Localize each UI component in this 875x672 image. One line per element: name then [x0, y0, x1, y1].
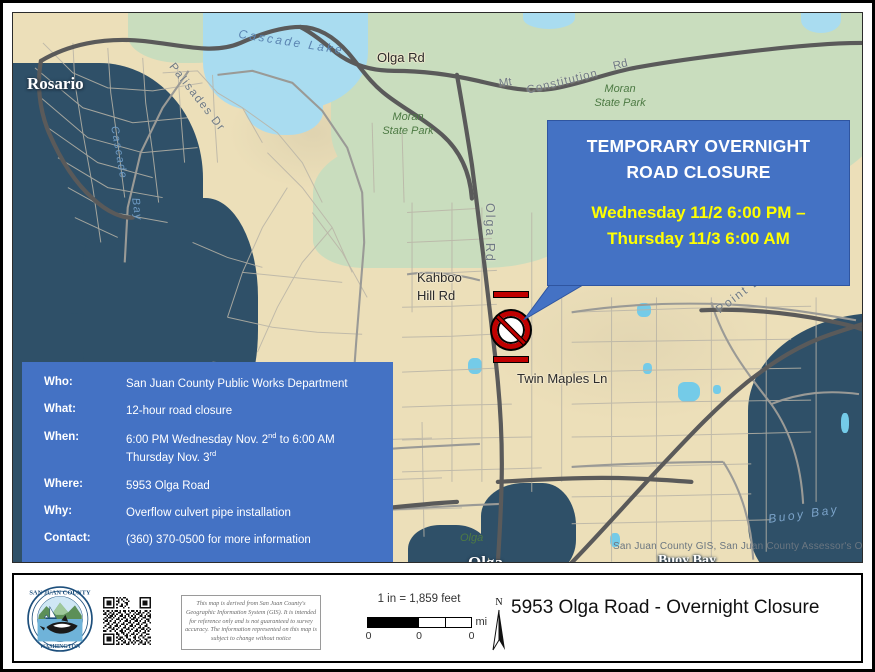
- info-value: San Juan County Public Works Department: [126, 376, 348, 393]
- info-row-when: When: 6:00 PM Wednesday Nov. 2nd to 6:00…: [44, 431, 393, 466]
- when-line2-sup: rd: [210, 449, 217, 458]
- map-panel[interactable]: Rosario Cascade Lake Cascade Bay Olga Rd…: [12, 12, 863, 563]
- scale-bar-filled: [368, 618, 420, 627]
- scale-ratio-text: 1 in = 1,859 feet: [354, 593, 484, 605]
- scale-tick-labels: 0 0 0: [367, 630, 472, 644]
- info-value: 12-hour road closure: [126, 403, 232, 420]
- footer-map-title: 5953 Olga Road - Overnight Closure: [511, 597, 819, 619]
- north-arrow-icon: [486, 608, 512, 652]
- qr-code-icon[interactable]: [103, 597, 151, 645]
- no-entry-icon: [492, 311, 530, 349]
- map-poster: Rosario Cascade Lake Cascade Bay Olga Rd…: [0, 0, 875, 672]
- svg-text:WASHINGTON: WASHINGTON: [40, 644, 81, 650]
- when-line2-a: Thursday Nov. 3: [126, 452, 210, 464]
- info-row-where: Where: 5953 Olga Road: [44, 478, 393, 495]
- info-key: When:: [44, 431, 126, 466]
- map-canvas[interactable]: Rosario Cascade Lake Cascade Bay Olga Rd…: [13, 13, 862, 562]
- map-scale: 1 in = 1,859 feet mi 0 0 0: [354, 593, 484, 644]
- scale-bar-tick: [445, 618, 446, 627]
- info-value: 6:00 PM Wednesday Nov. 2nd to 6:00 AM Th…: [126, 431, 335, 466]
- scale-tick-2: 0: [469, 630, 475, 642]
- when-line1-b: to 6:00 AM: [276, 434, 334, 446]
- callout-date-2: Thursday 11/3 6:00 AM: [558, 226, 839, 252]
- info-value: 5953 Olga Road: [126, 478, 210, 495]
- closure-bar-top: [493, 291, 529, 298]
- no-entry-slash: [496, 315, 526, 345]
- scale-tick-1: 0: [416, 630, 422, 642]
- svg-text:SAN JUAN COUNTY: SAN JUAN COUNTY: [29, 590, 91, 597]
- callout-headline-2: ROAD CLOSURE: [558, 159, 839, 185]
- road-closure-marker[interactable]: [485, 291, 537, 363]
- info-key: Why:: [44, 505, 126, 522]
- closure-callout-box: TEMPORARY OVERNIGHT ROAD CLOSURE Wednesd…: [547, 120, 850, 286]
- info-row-contact: Contact: (360) 370-0500 for more informa…: [44, 532, 393, 549]
- san-juan-county-logo: SAN JUAN COUNTY WASHINGTON: [26, 585, 94, 653]
- info-key: Who:: [44, 376, 126, 393]
- scale-tick-0: 0: [366, 630, 372, 642]
- info-value: Overflow culvert pipe installation: [126, 505, 291, 522]
- callout-date-1: Wednesday 11/2 6:00 PM –: [558, 200, 839, 226]
- north-letter: N: [484, 597, 514, 608]
- when-line1-a: 6:00 PM Wednesday Nov. 2: [126, 434, 268, 446]
- info-row-who: Who: San Juan County Public Works Depart…: [44, 376, 393, 393]
- info-row-why: Why: Overflow culvert pipe installation: [44, 505, 393, 522]
- north-arrow: N: [484, 597, 514, 655]
- info-key: Where:: [44, 478, 126, 495]
- info-value: (360) 370-0500 for more information: [126, 532, 311, 549]
- closure-info-panel: Who: San Juan County Public Works Depart…: [22, 362, 393, 562]
- closure-bar-bottom: [493, 356, 529, 363]
- info-key: What:: [44, 403, 126, 420]
- scale-bar: mi: [367, 617, 472, 628]
- map-footer: SAN JUAN COUNTY WASHINGTON: [12, 573, 863, 663]
- callout-headline-1: TEMPORARY OVERNIGHT: [558, 133, 839, 159]
- info-key: Contact:: [44, 532, 126, 549]
- map-disclaimer-text: This map is derived from San Juan County…: [181, 595, 321, 650]
- info-row-what: What: 12-hour road closure: [44, 403, 393, 420]
